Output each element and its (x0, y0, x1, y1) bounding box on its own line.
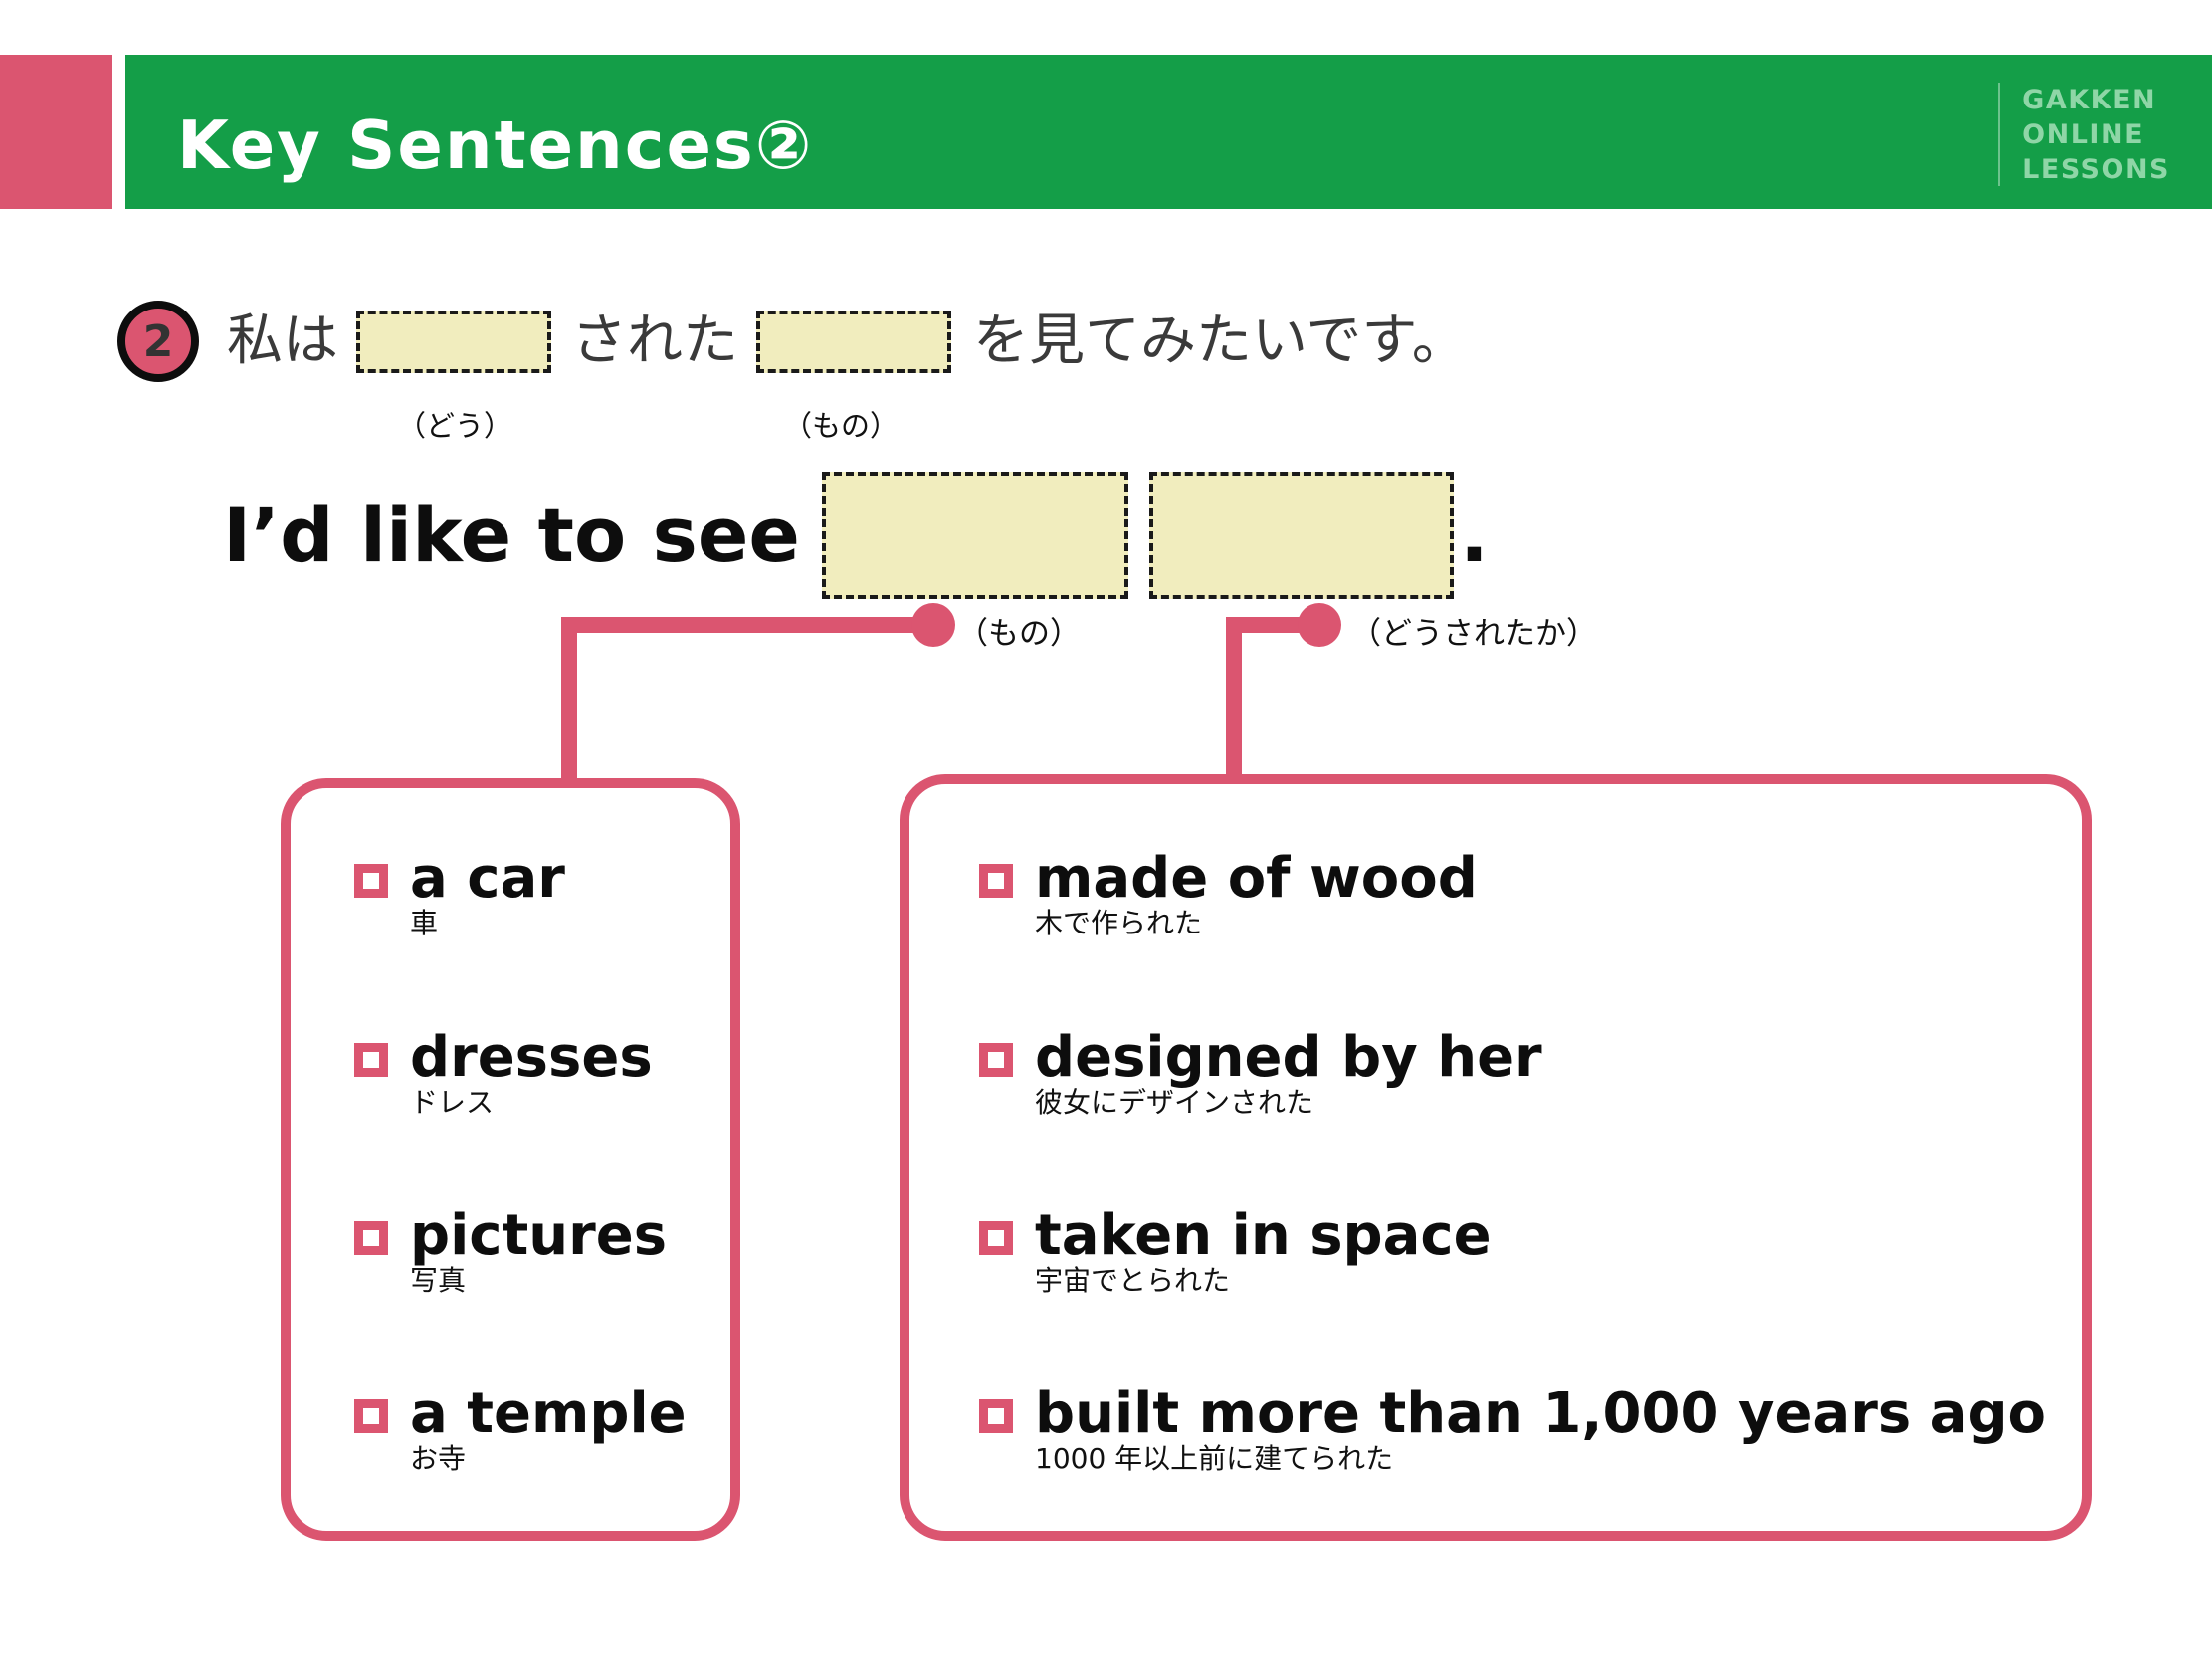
checkbox-square-icon[interactable] (979, 1399, 1013, 1433)
choice-item-built-more-than-1000-years-ago[interactable]: built more than 1,000 years ago 1000 年以上… (979, 1385, 2046, 1476)
connector-dot-right (1298, 603, 1341, 647)
choice-label-en: a temple (410, 1381, 687, 1446)
checkbox-square-icon[interactable] (979, 864, 1013, 898)
choice-label-jp: 写真 (410, 1264, 466, 1297)
en-blank-participle[interactable] (1149, 472, 1454, 599)
choice-label-en: taken in space (1035, 1203, 1492, 1268)
header-accent-block (0, 55, 112, 209)
choice-box-nouns: a car 車 dresses ドレス pictures 写真 a temple… (281, 778, 740, 1541)
checkbox-square-icon[interactable] (979, 1221, 1013, 1255)
choice-item-dresses[interactable]: dresses ドレス (354, 1029, 653, 1120)
connector-label-left: （もの） (957, 608, 1081, 653)
logo-line-online: ONLINE (2022, 117, 2170, 152)
choice-item-made-of-wood[interactable]: made of wood 木で作られた (979, 850, 1478, 940)
connector-path-right (1234, 625, 1311, 774)
choice-label-jp: 木で作られた (1035, 907, 1202, 939)
choice-label-en: pictures (410, 1203, 667, 1268)
choice-label-jp: 車 (410, 907, 438, 939)
jp-blank-thing[interactable] (756, 311, 951, 373)
english-sentence-row: I’d like to see . (223, 471, 1489, 600)
jp-blank-thing-label: （もの） (783, 403, 899, 445)
connector-label-right: （どうされたか） (1350, 608, 1597, 653)
choice-item-a-temple[interactable]: a temple お寺 (354, 1385, 687, 1476)
choice-label-jp: 宇宙でとられた (1035, 1264, 1230, 1297)
checkbox-square-icon[interactable] (354, 1399, 388, 1433)
choice-item-designed-by-her[interactable]: designed by her 彼女にデザインされた (979, 1029, 1542, 1120)
question-number-badge: 2 (117, 301, 199, 382)
choice-label-jp: 1000 年以上前に建てられた (1035, 1442, 1393, 1475)
choice-item-a-car[interactable]: a car 車 (354, 850, 565, 940)
header-band: Key Sentences② GAKKEN ONLINE LESSONS (0, 55, 2212, 209)
logo-line-gakken: GAKKEN (2022, 83, 2170, 117)
choice-label-en: designed by her (1035, 1025, 1542, 1090)
choice-label-en: built more than 1,000 years ago (1035, 1381, 2046, 1446)
english-sentence-stem: I’d like to see (223, 498, 800, 573)
logo-line-lessons: LESSONS (2022, 152, 2170, 187)
en-blank-thing[interactable] (822, 472, 1128, 599)
choice-label-en: dresses (410, 1025, 653, 1090)
checkbox-square-icon[interactable] (354, 1221, 388, 1255)
choice-label-en: a car (410, 846, 565, 911)
gakken-online-lessons-logo: GAKKEN ONLINE LESSONS (1998, 83, 2170, 186)
choice-label-en: made of wood (1035, 846, 1478, 911)
choice-item-taken-in-space[interactable]: taken in space 宇宙でとられた (979, 1207, 1492, 1298)
jp-sentence-part2: された (571, 313, 738, 369)
jp-sentence-part1: 私は (227, 313, 338, 369)
jp-blank-how-label: （どう） (397, 403, 512, 445)
jp-blank-how[interactable] (356, 311, 551, 373)
english-sentence-period: . (1460, 498, 1489, 573)
connector-dot-left (911, 603, 955, 647)
choice-label-jp: お寺 (410, 1442, 466, 1475)
choice-label-jp: ドレス (410, 1086, 494, 1119)
checkbox-square-icon[interactable] (354, 864, 388, 898)
japanese-sentence-row: 2 私は された を見てみたいです。 (117, 306, 1468, 377)
jp-sentence-part3: を見てみたいです。 (973, 313, 1468, 369)
choice-label-jp: 彼女にデザインされた (1035, 1086, 1313, 1119)
choice-box-participles: made of wood 木で作られた designed by her 彼女にデ… (900, 774, 2092, 1541)
checkbox-square-icon[interactable] (979, 1043, 1013, 1077)
choice-item-pictures[interactable]: pictures 写真 (354, 1207, 667, 1298)
checkbox-square-icon[interactable] (354, 1043, 388, 1077)
page-title: Key Sentences② (177, 106, 814, 184)
connector-path-left (569, 625, 925, 778)
